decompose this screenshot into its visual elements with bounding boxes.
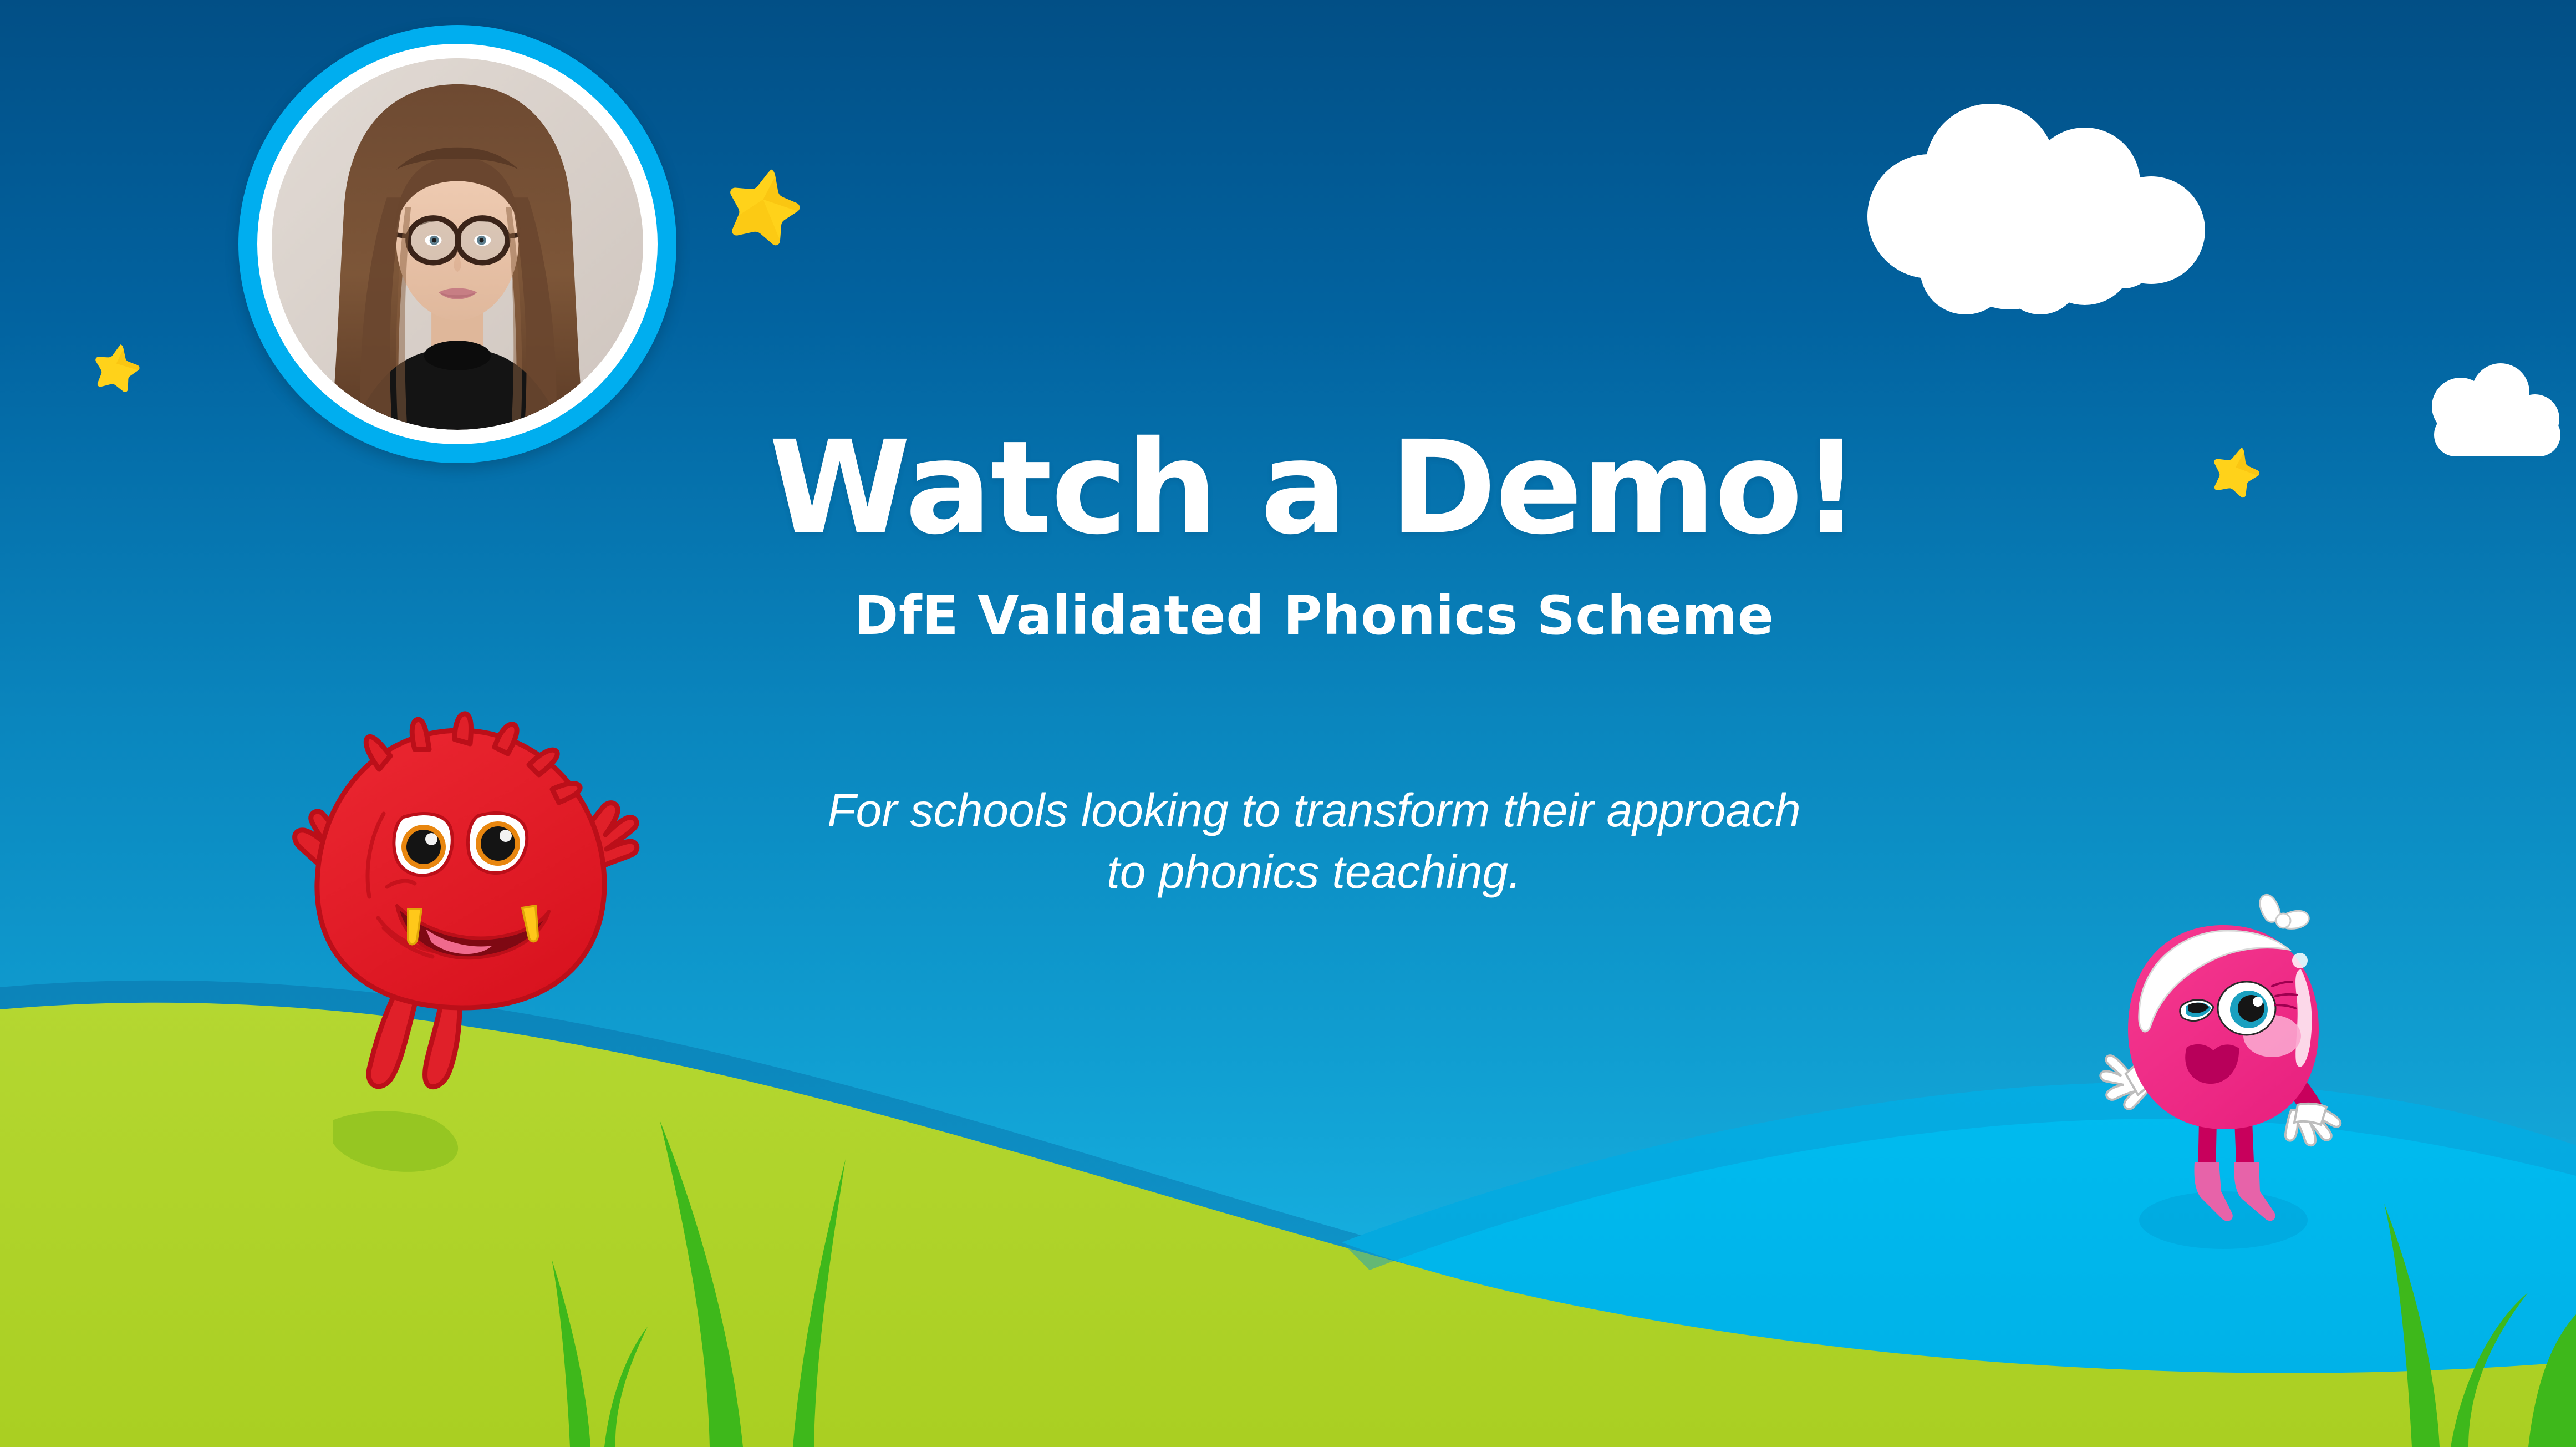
banner-description-line-2: to phonics teaching. xyxy=(654,841,1974,903)
avatar-ring xyxy=(257,44,658,444)
demo-banner: Watch a Demo! DfE Validated Phonics Sche… xyxy=(0,0,2576,1447)
red-monster-character xyxy=(238,696,682,1134)
page-title: Watch a Demo! xyxy=(654,422,1974,555)
cloud-small-icon xyxy=(2412,358,2576,469)
banner-description: For schools looking to transform their a… xyxy=(654,780,1974,903)
avatar xyxy=(238,25,676,463)
cloud-large-icon xyxy=(1863,97,2218,319)
star-far-left-icon xyxy=(87,337,145,394)
banner-text-block: Watch a Demo! DfE Validated Phonics Sche… xyxy=(654,422,1974,903)
banner-description-line-1: For schools looking to transform their a… xyxy=(654,780,1974,841)
pink-monster-legs xyxy=(2195,1120,2275,1221)
pink-monster-character xyxy=(2068,887,2379,1242)
banner-subtitle: DfE Validated Phonics Scheme xyxy=(654,584,1974,648)
avatar-photo xyxy=(272,58,643,430)
red-monster-body xyxy=(317,730,604,1008)
